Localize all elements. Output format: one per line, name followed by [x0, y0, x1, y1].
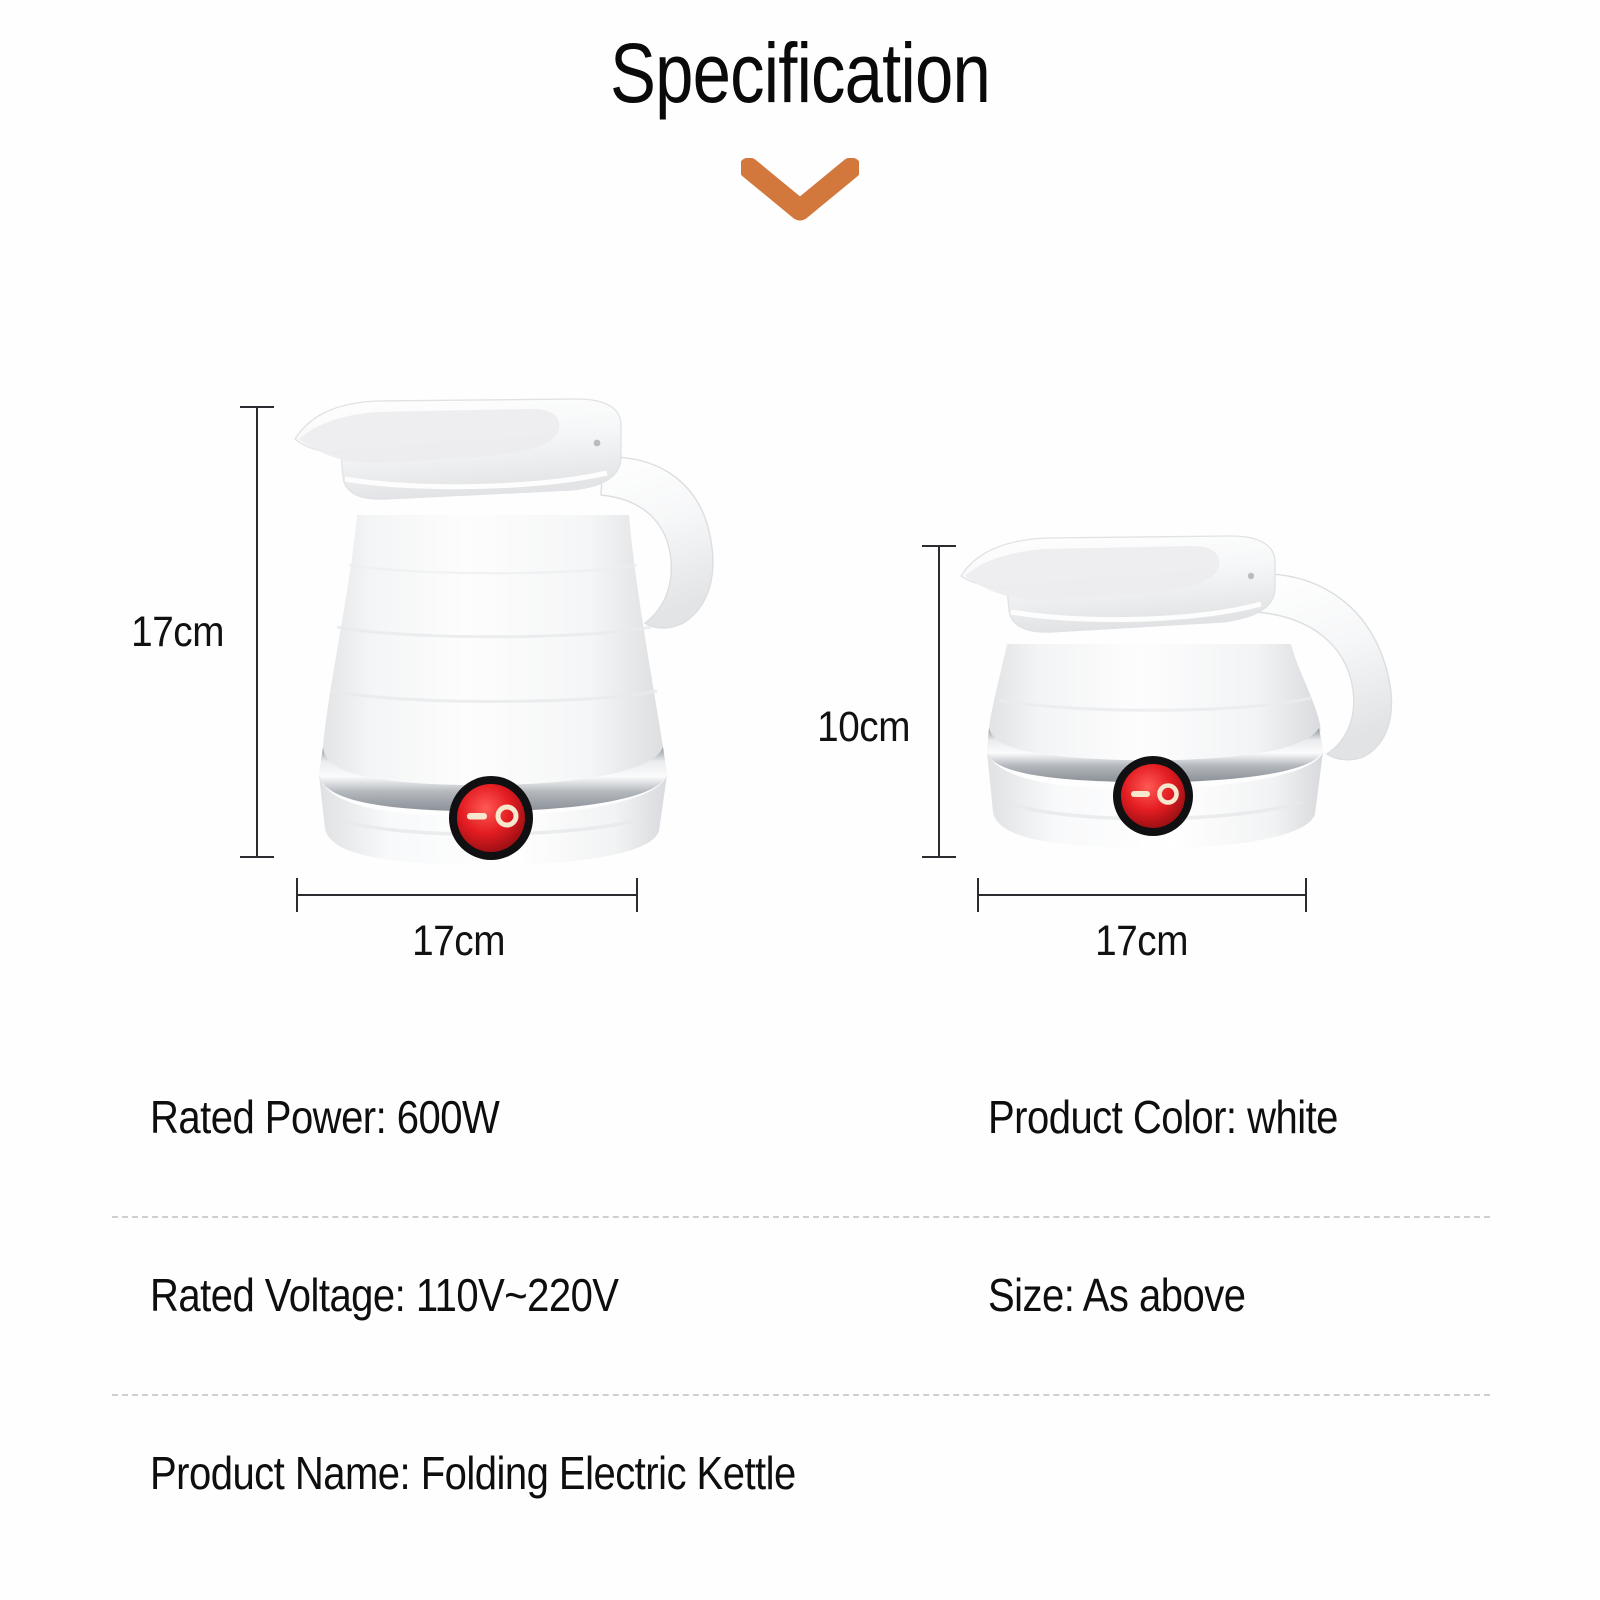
collapsed-width-dimension-line	[977, 878, 1307, 912]
spec-product-name: Product Name: Folding Electric Kettle	[150, 1446, 796, 1500]
collapsed-kettle-image	[955, 532, 1455, 867]
spec-row: Rated Voltage: 110V~220V Size: As above	[0, 1218, 1600, 1396]
expanded-height-label: 17cm	[131, 608, 224, 657]
collapsed-height-dimension-line	[922, 545, 956, 858]
spec-rated-power: Rated Power: 600W	[150, 1090, 499, 1144]
specification-table: Rated Power: 600W Product Color: white R…	[0, 1040, 1600, 1546]
spec-row: Product Name: Folding Electric Kettle	[0, 1396, 1600, 1546]
product-dimension-stage: 17cm	[0, 0, 1600, 1000]
spec-rated-voltage: Rated Voltage: 110V~220V	[150, 1268, 618, 1322]
expanded-width-dimension-line	[296, 878, 638, 912]
collapsed-width-label: 17cm	[1095, 917, 1188, 966]
expanded-height-dimension-line	[240, 406, 274, 858]
collapsed-height-label: 10cm	[817, 703, 910, 752]
spec-product-color: Product Color: white	[988, 1090, 1338, 1144]
expanded-kettle-image	[285, 395, 745, 865]
spec-size: Size: As above	[988, 1268, 1245, 1322]
spec-row: Rated Power: 600W Product Color: white	[0, 1040, 1600, 1218]
expanded-width-label: 17cm	[412, 917, 505, 966]
